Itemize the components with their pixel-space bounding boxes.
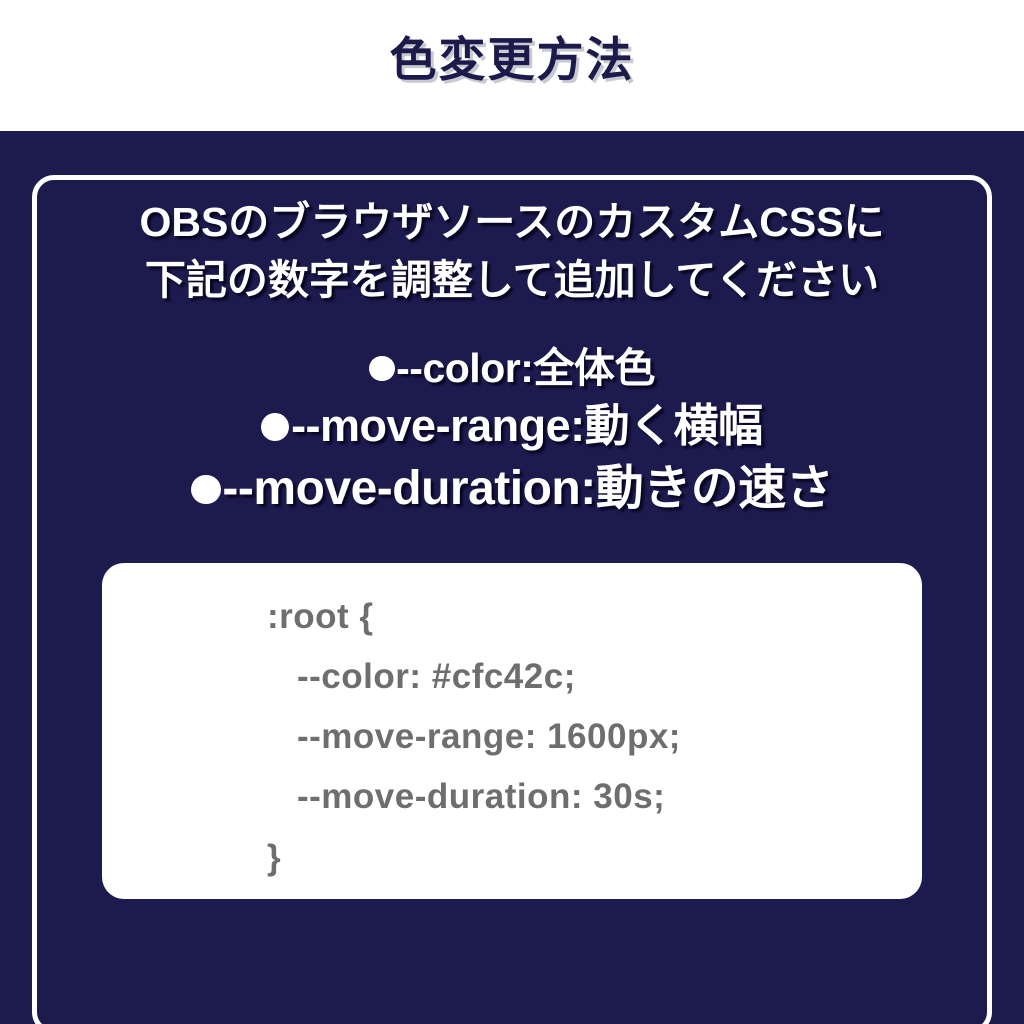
list-item: --move-range:動く横幅 (261, 399, 762, 454)
list-item-label: --move-range:動く横幅 (291, 399, 763, 454)
list-item: --move-duration:動きの速さ (191, 460, 833, 519)
variable-list: --color:全体色 --move-range:動く横幅 --move-dur… (191, 343, 833, 518)
panel-content: OBSのブラウザソースのカスタムCSSに 下記の数字を調整して追加してください … (0, 131, 1024, 1024)
list-item-label: --move-duration:動きの速さ (222, 460, 833, 519)
poster-root: 色変更方法 OBSのブラウザソースのカスタムCSSに 下記の数字を調整して追加し… (0, 0, 1024, 1024)
code-line-selector: :root { (267, 587, 922, 647)
header-bar: 色変更方法 (0, 0, 1024, 131)
bullet-dot-icon (369, 356, 394, 381)
code-block: :root {--color: #cfc42c;--move-range: 16… (102, 587, 922, 888)
intro-line-2: 下記の数字を調整して追加してください (139, 251, 884, 309)
code-snippet-card: :root {--color: #cfc42c;--move-range: 16… (102, 563, 922, 899)
bullet-dot-icon (191, 475, 221, 505)
page-title: 色変更方法 (390, 36, 635, 83)
list-item: --color:全体色 (369, 343, 655, 393)
code-line-close-brace: } (267, 828, 922, 888)
intro-heading: OBSのブラウザソースのカスタムCSSに 下記の数字を調整して追加してください (139, 193, 884, 309)
bullet-dot-icon (261, 413, 289, 441)
code-line-move-range: --move-range: 1600px; (267, 707, 922, 767)
intro-line-1: OBSのブラウザソースのカスタムCSSに (139, 193, 884, 251)
code-line-color: --color: #cfc42c; (267, 647, 922, 707)
navy-panel: OBSのブラウザソースのカスタムCSSに 下記の数字を調整して追加してください … (0, 131, 1024, 1024)
code-line-move-duration: --move-duration: 30s; (267, 767, 922, 827)
list-item-label: --color:全体色 (396, 343, 655, 393)
